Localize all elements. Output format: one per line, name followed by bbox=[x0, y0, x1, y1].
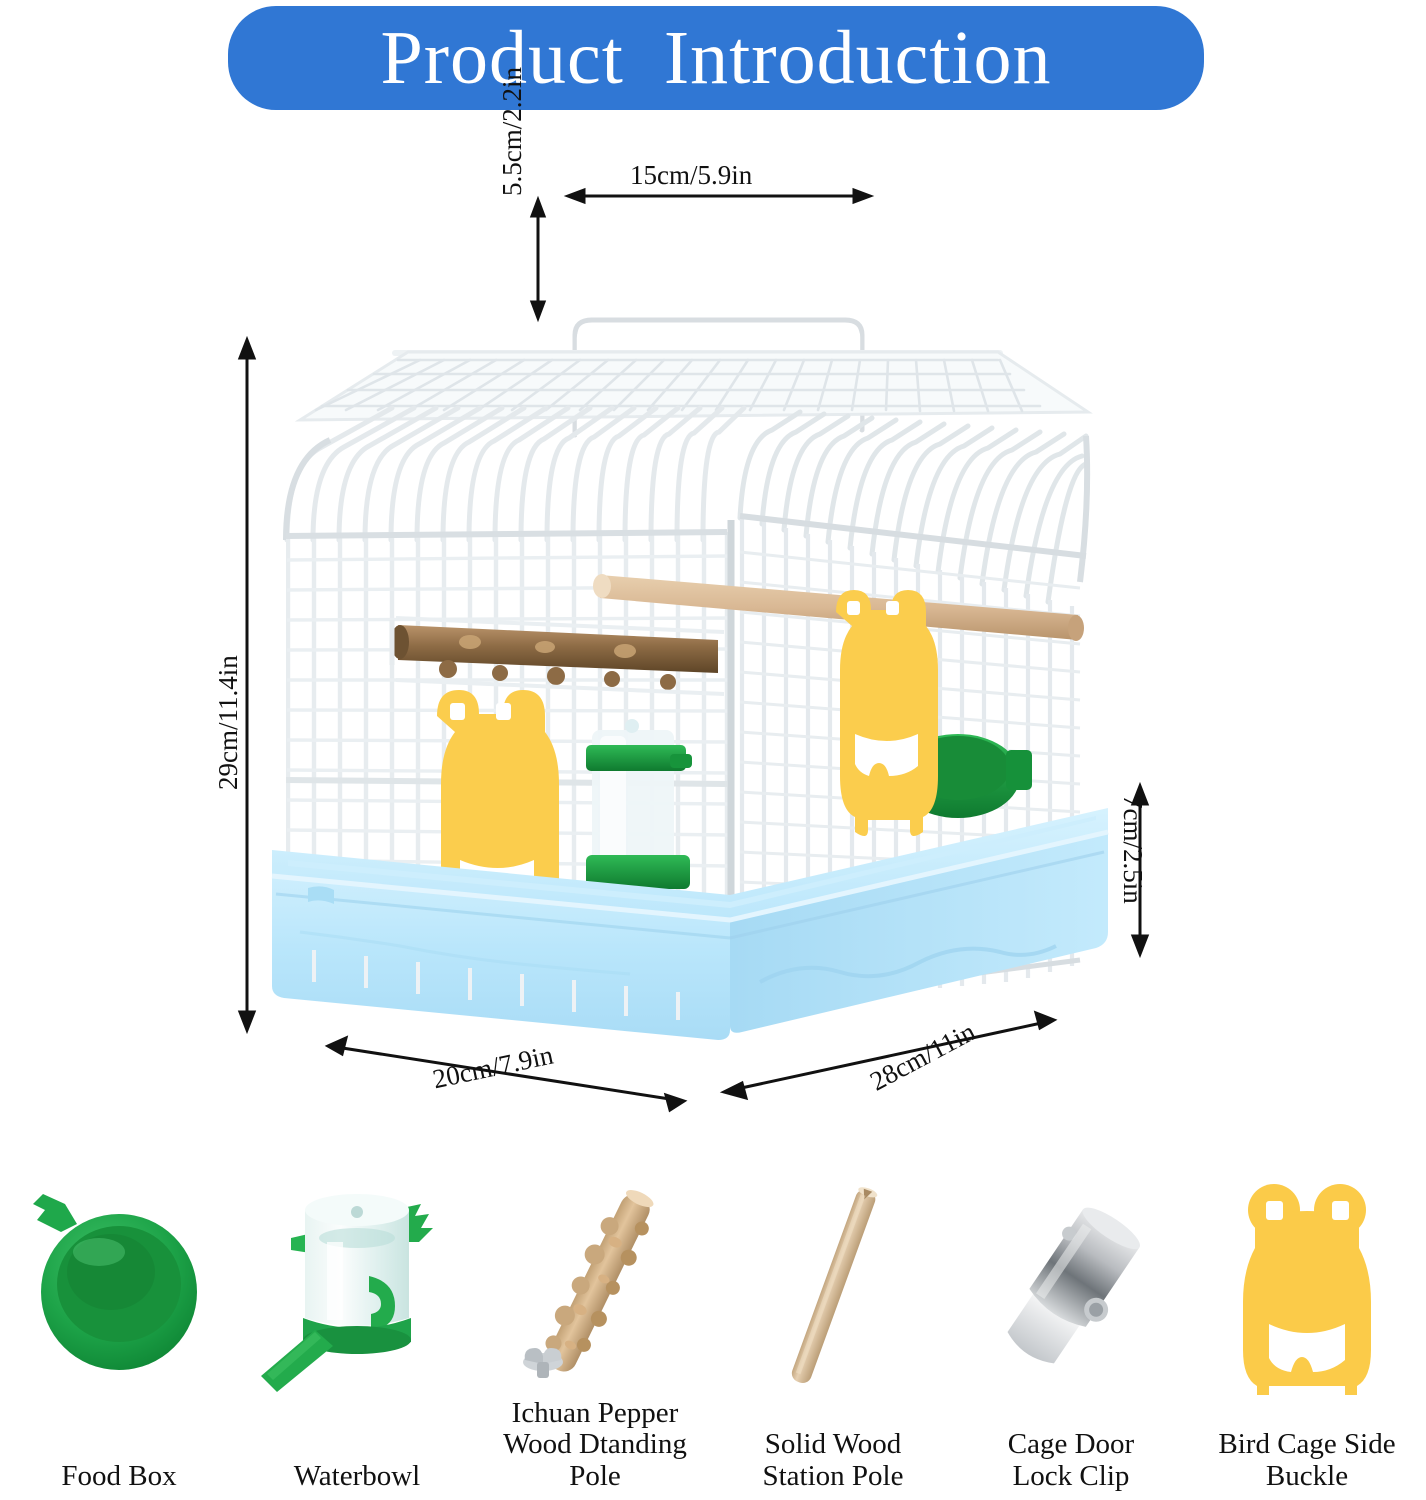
accessory-label-station-pole: Solid Wood Station Pole bbox=[714, 1429, 952, 1492]
accessory-label-food-box: Food Box bbox=[0, 1461, 238, 1492]
knobby-branch-icon bbox=[495, 1180, 695, 1395]
base-tray bbox=[272, 808, 1108, 1040]
accessory-label-pepper-pole: Ichuan Pepper Wood Dtanding Pole bbox=[476, 1398, 714, 1492]
accessory-side-buckle: Bird Cage Side Buckle bbox=[1188, 1180, 1426, 1500]
cage-diagram bbox=[0, 120, 1426, 1130]
wood-dowel-icon bbox=[733, 1180, 933, 1395]
accessory-label-side-buckle: Bird Cage Side Buckle bbox=[1188, 1429, 1426, 1492]
water-bottle-icon bbox=[257, 1180, 457, 1395]
accessory-door-lock-clip: Cage Door Lock Clip bbox=[952, 1180, 1190, 1500]
dimension-label-cage-height: 29cm/11.4in bbox=[213, 655, 244, 790]
accessories-row: Food Box bbox=[0, 1180, 1426, 1500]
cage-right-arches bbox=[740, 412, 1086, 602]
product-introduction-infographic: Product Introduction bbox=[0, 0, 1426, 1500]
dimension-label-handle-width: 15cm/5.9in bbox=[630, 160, 752, 191]
page-title: Product Introduction bbox=[380, 20, 1051, 96]
page-title-banner: Product Introduction bbox=[228, 6, 1204, 110]
dimension-label-tray-height: 7cm/2.5in bbox=[1117, 795, 1148, 904]
accessory-label-waterbowl: Waterbowl bbox=[238, 1461, 476, 1492]
accessory-label-door-lock-clip: Cage Door Lock Clip bbox=[952, 1429, 1190, 1492]
metal-clip-icon bbox=[971, 1180, 1171, 1395]
yellow-bear-buckle-icon bbox=[1207, 1180, 1407, 1395]
accessory-food-box: Food Box bbox=[0, 1180, 238, 1500]
green-bowl-icon bbox=[19, 1180, 219, 1395]
dimension-label-handle-height: 5.5cm/2.2in bbox=[497, 67, 528, 196]
cage-front-arches bbox=[287, 408, 744, 540]
side-buckle-right bbox=[836, 590, 938, 836]
accessory-station-pole: Solid Wood Station Pole bbox=[714, 1180, 952, 1500]
accessory-pepper-pole: Ichuan Pepper Wood Dtanding Pole bbox=[476, 1180, 714, 1500]
accessory-waterbowl: Waterbowl bbox=[238, 1180, 476, 1500]
